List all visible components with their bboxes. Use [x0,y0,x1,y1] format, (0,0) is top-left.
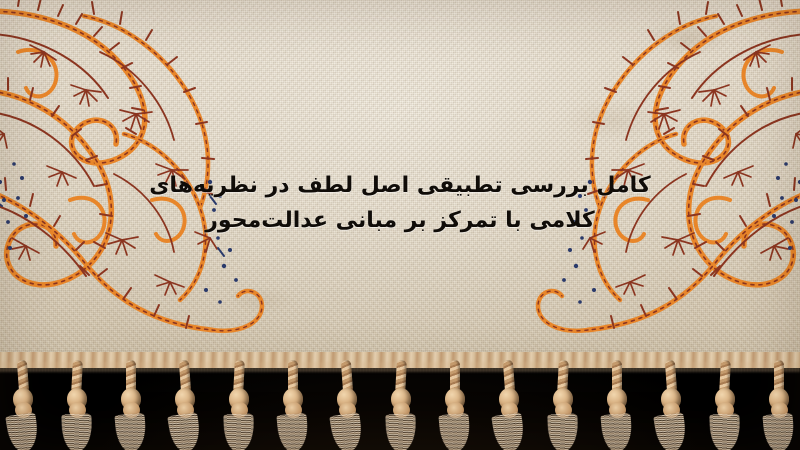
tassel-skirt [61,413,92,450]
tassel-skirt [762,413,795,450]
tassel-skirt [329,412,365,450]
tassel [276,360,310,450]
tassel-skirt [114,413,147,450]
tassel-skirt [223,413,254,450]
tassel-skirt [547,413,578,450]
tassel-skirt [491,412,527,450]
tassel [222,360,256,450]
tassel [168,360,202,450]
tassel-skirt [167,412,203,450]
title-line-1: کامل بررسی تطبیقی اصل لطف در نظریه‌های [0,168,800,203]
tassel [708,360,742,450]
tassel [384,360,418,450]
tassel-skirt [438,413,471,450]
tassel-skirt [653,412,689,450]
tassel-fringe [0,360,800,450]
tassel-skirt [600,413,633,450]
tassel [114,360,148,450]
tassel-skirt [385,413,416,450]
tassel [6,360,40,450]
tassel [600,360,634,450]
tassel-skirt [276,413,309,450]
tassel-skirt [709,413,740,450]
tassel [60,360,94,450]
tassel [762,360,796,450]
tassel [492,360,526,450]
tassel [330,360,364,450]
tassel [438,360,472,450]
tassel [654,360,688,450]
tassel-skirt [5,412,41,450]
banner-canvas: کامل بررسی تطبیقی اصل لطف در نظریه‌های ک… [0,0,800,450]
tassel [546,360,580,450]
title-line-2: کلامی با تمرکز بر مبانی عدالت‌محور [0,203,800,238]
banner-title: کامل بررسی تطبیقی اصل لطف در نظریه‌های ک… [0,168,800,238]
